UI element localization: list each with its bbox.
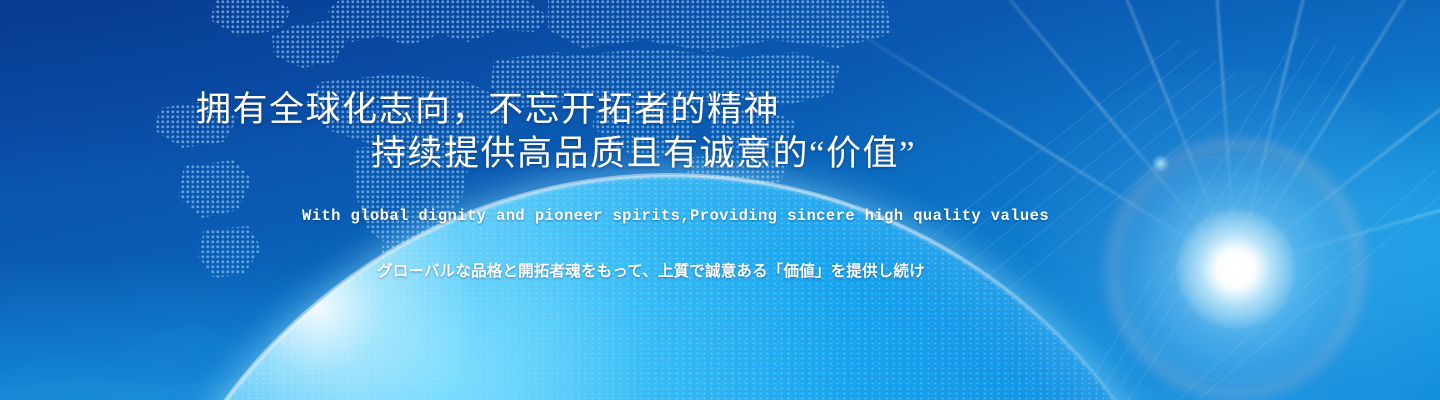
copy-block: 拥有全球化志向，不忘开拓者的精神 持续提供高品质且有诚意的“价值” With g… xyxy=(0,0,1060,400)
sun-flare xyxy=(1235,268,1237,270)
subtitle-japanese: グローバルな品格と開拓者魂をもって、上質で誠意ある「価値」を提供し続け xyxy=(377,259,925,281)
hero-banner: 拥有全球化志向，不忘开拓者的精神 持续提供高品质且有诚意的“价值” With g… xyxy=(0,0,1440,400)
headline-line-1: 拥有全球化志向，不忘开拓者的精神 xyxy=(196,92,780,127)
headline-line-2: 持续提供高品质且有诚意的“价值” xyxy=(371,136,916,171)
subtitle-english: With global dignity and pioneer spirits,… xyxy=(302,207,1049,225)
